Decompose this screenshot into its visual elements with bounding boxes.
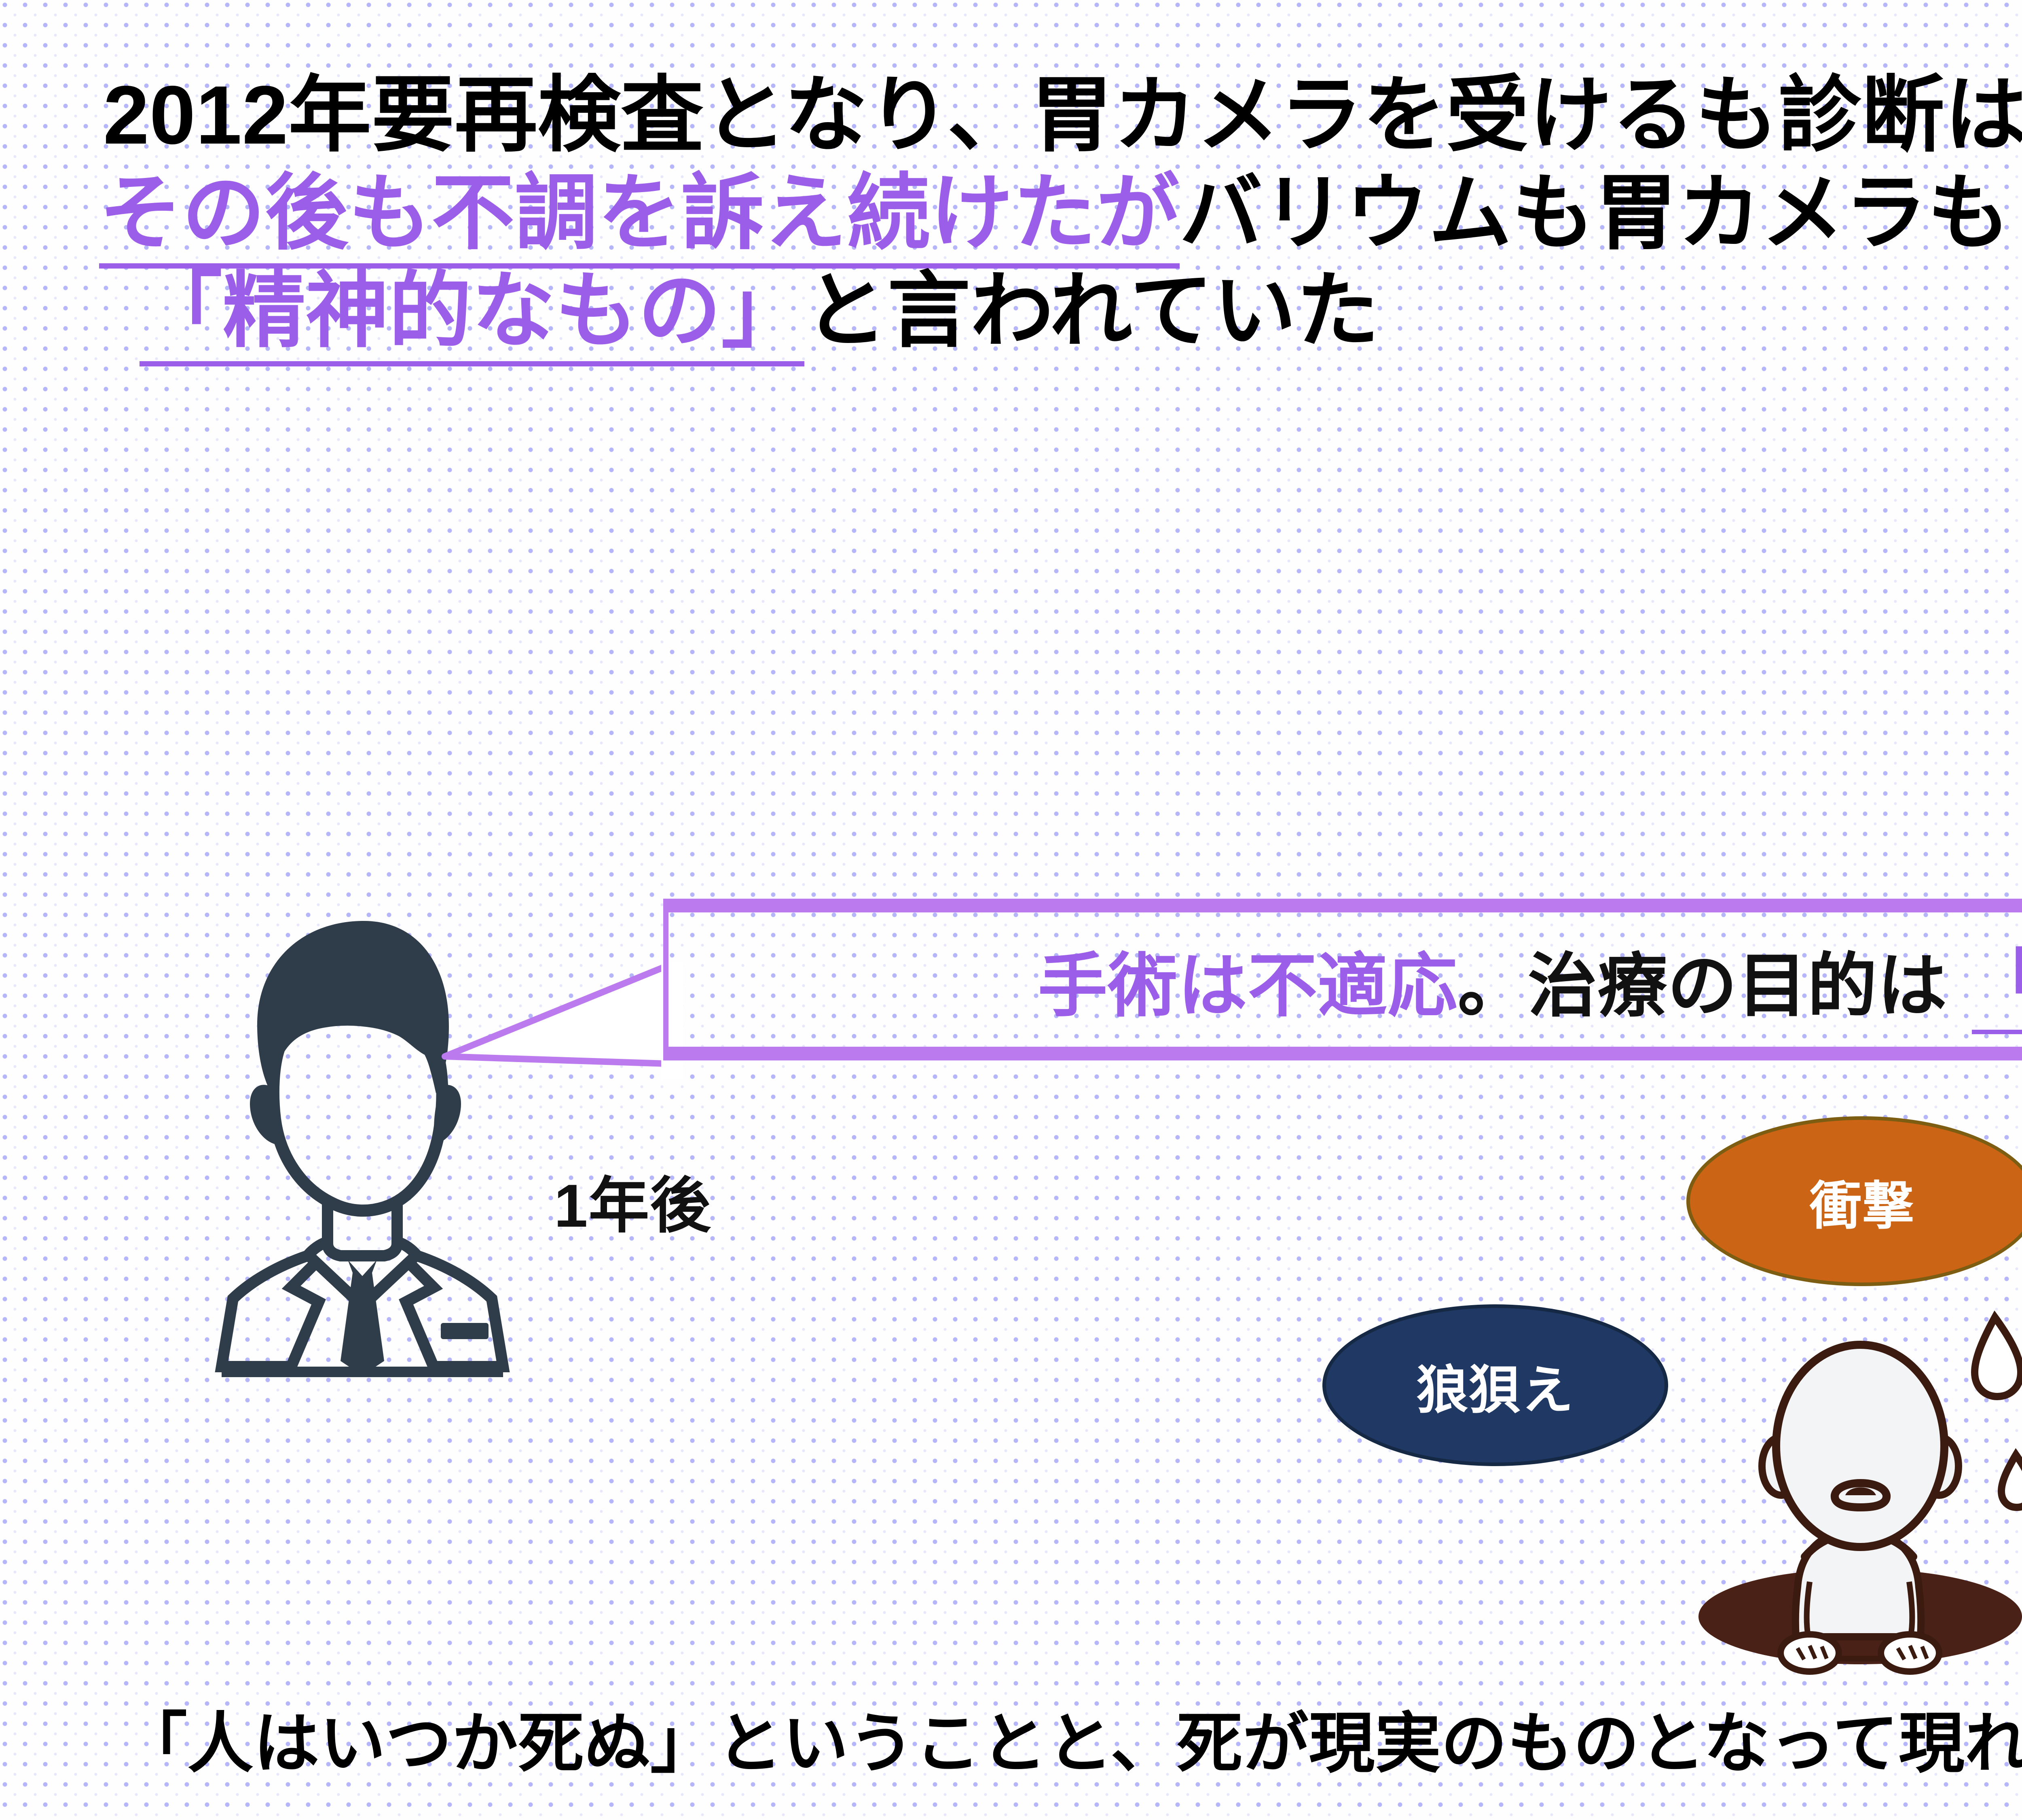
title-line-2: その後も不調を訴え続けたがバリウムも胃カメラもしているのだから: [99, 171, 2022, 255]
sweat-drop-large-icon: [1975, 1317, 2021, 1397]
title-line-3-plain: と言われていた: [804, 265, 1379, 357]
emotion-label-panic: 狼狽え: [1416, 1348, 1574, 1423]
bubble-highlight-life-prolonging: 「延命」: [1972, 925, 2022, 1034]
title-highlight-kept-complaining: その後も不調を訴え続けたが: [99, 167, 1180, 269]
person-in-hole-icon: [1676, 1304, 2022, 1689]
emotion-ellipse-panic: 狼狽え: [1322, 1304, 1668, 1466]
speech-bubble-text: 手術は不適応。治療の目的は「延命」です: [663, 899, 2022, 1060]
bubble-segment-surgery: 手術は不適応: [1038, 929, 1458, 1030]
bubble-segment-goal: 。治療の目的は: [1458, 929, 1948, 1030]
title-line-2-plain: バリウムも胃カメラもしているのだから: [1180, 167, 2022, 259]
title-highlight-psychological: 「精神的なもの」: [140, 265, 804, 366]
emotion-ellipse-shock: 衝撃: [1686, 1116, 2022, 1286]
slide-title-block: 2012年要再検査となり、胃カメラを受けるも診断は「胃炎」 その後も不調を訴え続…: [103, 73, 2022, 366]
footer-caption: 「人はいつか死ぬ」ということと、死が現実のものとなって現れるのは違う: [121, 1690, 2022, 1785]
title-line-1-plain: 2012年要再検査となり、胃カメラを受けるも診断は: [103, 69, 2022, 161]
title-line-1: 2012年要再検査となり、胃カメラを受けるも診断は「胃炎」: [103, 73, 2022, 157]
sweat-drop-small-icon: [2001, 1455, 2022, 1507]
doctor-avatar-icon: [158, 896, 570, 1381]
doctor-time-label: 1年後: [554, 1157, 711, 1244]
title-line-3: 「精神的なもの」と言われていた: [140, 269, 2022, 353]
emotion-label-shock: 衝撃: [1810, 1164, 1915, 1239]
slide-canvas: Certified non-profit organization KIBOUN…: [0, 0, 2022, 1820]
